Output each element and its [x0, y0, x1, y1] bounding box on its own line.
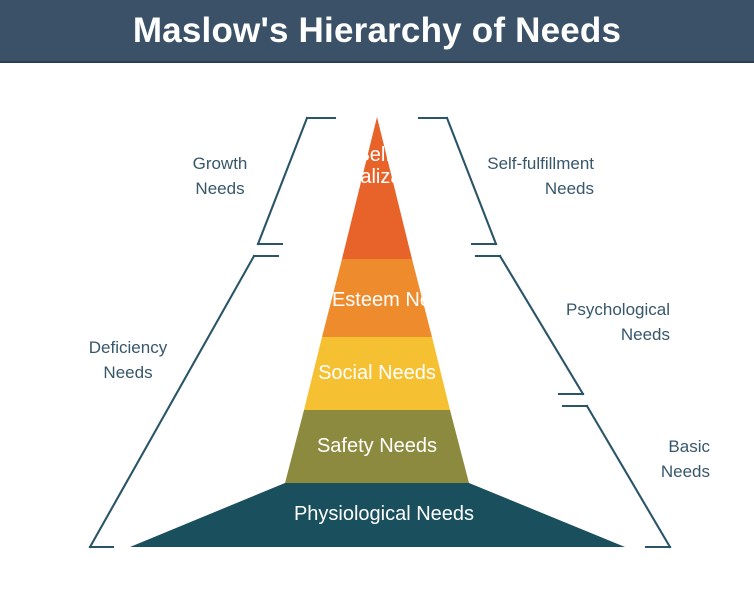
- page-title: Maslow's Hierarchy of Needs: [133, 13, 621, 48]
- pyramid-diagram: Self- Actualization Self-Esteem Needs So…: [0, 63, 754, 589]
- group-label-deficiency-needs: Deficiency Needs: [58, 336, 198, 385]
- group-label-psychological-needs: Psychological Needs: [520, 298, 670, 347]
- group-label-basic-needs: Basic Needs: [580, 435, 710, 484]
- bracket-deficiency-needs: [90, 256, 278, 547]
- group-label-growth-needs: Growth Needs: [150, 152, 290, 201]
- group-label-self-fulfillment-needs: Self-fulfillment Needs: [444, 152, 594, 201]
- header-bar: Maslow's Hierarchy of Needs: [0, 0, 754, 63]
